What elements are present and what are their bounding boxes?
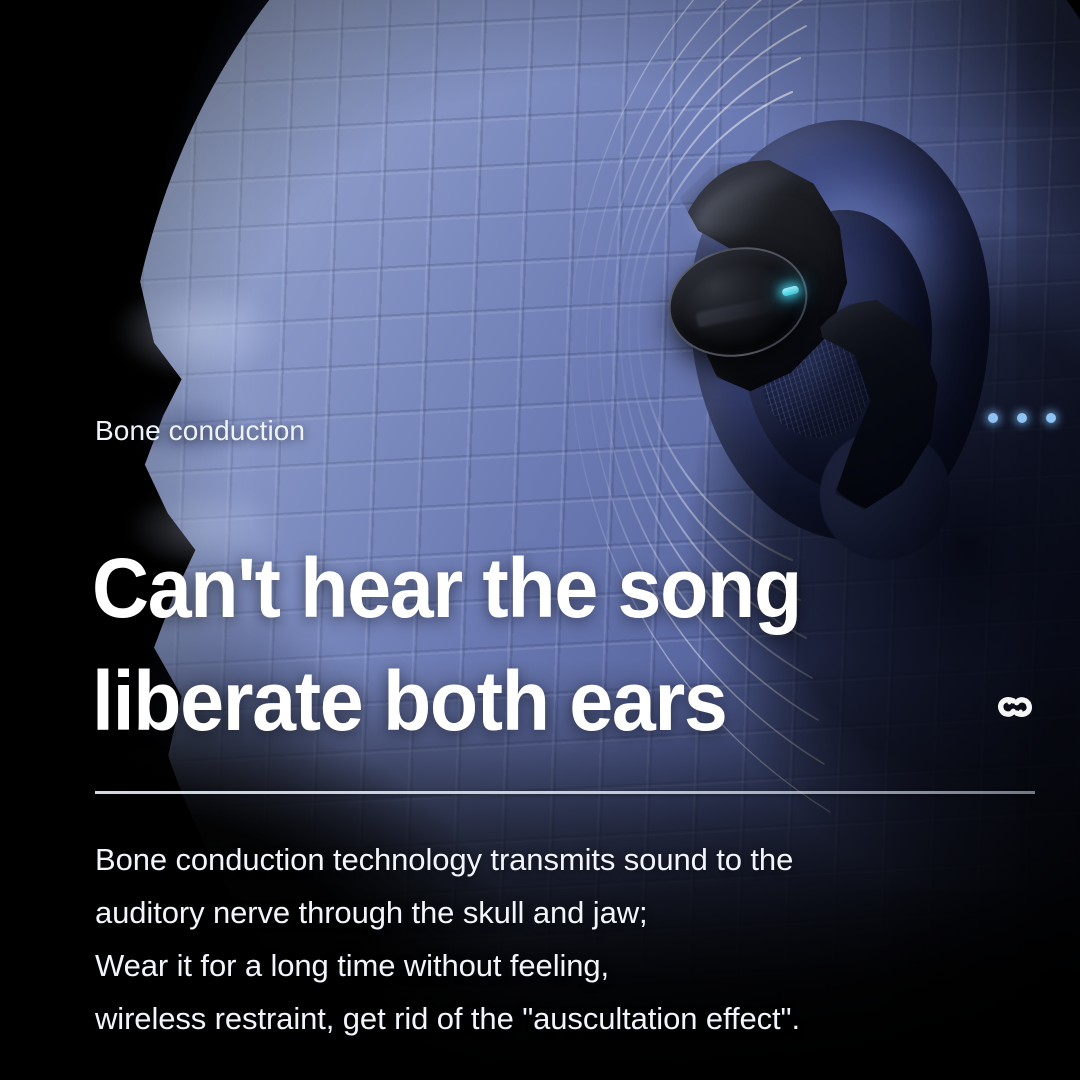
- decor-dot-icon: [1046, 413, 1056, 423]
- body-line-4: wireless restraint, get rid of the "ausc…: [95, 992, 1055, 1045]
- decor-dot-icon: [1017, 413, 1027, 423]
- marketing-banner: Bone conduction Can't hear the song libe…: [0, 0, 1080, 1080]
- body-line-1: Bone conduction technology transmits sou…: [95, 833, 1055, 886]
- chain-link-icon: [994, 686, 1036, 728]
- body-line-2: auditory nerve through the skull and jaw…: [95, 886, 1055, 939]
- decor-dot-icon: [988, 413, 998, 423]
- headline-line-2: liberate both ears: [92, 645, 919, 758]
- body-line-3: Wear it for a long time without feeling,: [95, 939, 1055, 992]
- body-copy: Bone conduction technology transmits sou…: [95, 833, 1055, 1045]
- eyebrow-label: Bone conduction: [95, 415, 305, 447]
- headline: Can't hear the song liberate both ears: [92, 532, 919, 758]
- headline-line-1: Can't hear the song: [92, 532, 919, 645]
- decor-dots: [988, 413, 1056, 423]
- section-divider: [95, 791, 1035, 794]
